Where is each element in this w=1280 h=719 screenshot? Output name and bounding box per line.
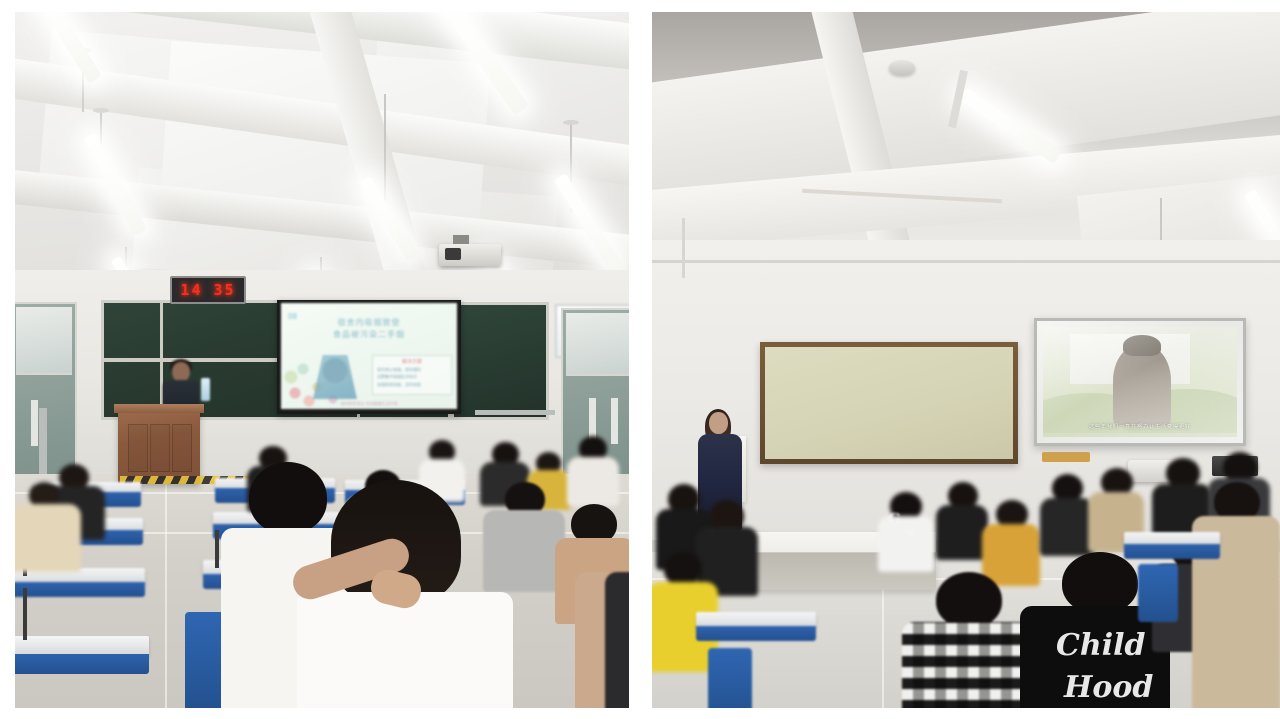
slide-footer: 保持宿舍清洁 共创健康生活环境 [340,401,397,407]
student [15,482,79,572]
chalkboard-left-side-panel [451,302,549,420]
door-push-bar [31,400,38,446]
door-transom-window [566,313,629,376]
projected-video: 这些年我们一直在努力让生活变得更好 [1043,327,1237,437]
slide-solution-box: 解决方案 室内禁止吸烟，保持通风 设置集中吸烟区并标识 加强宿舍巡查，及时劝阻 [372,355,452,395]
video-subtitle: 这些年我们一直在努力让生活变得更好 [1043,423,1237,430]
slide-title-line2: 食品被污染二手烟 [333,329,405,340]
lecture-chair [1138,564,1178,622]
water-bottle [201,378,210,401]
student-foreground-plaid [902,572,1034,708]
light-stem [384,94,386,204]
student [936,482,988,560]
childhood-shirt-line1: Child [1056,628,1145,663]
light-canopy [563,120,579,125]
lecture-chair [708,648,752,708]
student [1040,474,1094,556]
slide-box-line: 加强宿舍巡查，及时劝阻 [377,382,451,388]
ceiling-projector-left [439,244,501,266]
marker-tray [1042,452,1090,462]
projection-screen-left: 08 宿舍内吸烟致使 食品被污染二手烟 解决方案 室内禁止吸烟，保持通风 设置集… [277,300,461,414]
hand-rail [475,410,555,415]
smoke-detector-icon [889,60,915,75]
lecture-desk [1124,532,1220,546]
slide-box-heading: 解决方案 [373,358,451,365]
lecture-desk [696,612,816,628]
projection-screen-right: 这些年我们一直在努力让生活变得更好 [1034,318,1246,446]
student [605,572,629,708]
slide-box-line: 室内禁止吸烟，保持通风 [377,367,451,373]
presentation-slide: 08 宿舍内吸烟致使 食品被污染二手烟 解决方案 室内禁止吸烟，保持通风 设置集… [281,303,457,409]
light-canopy [93,108,109,113]
slide-box-line: 设置集中吸烟区并标识 [377,374,451,380]
student [1192,482,1280,708]
writing-board-right [760,342,1018,464]
digital-wall-clock-left: 14 35 [170,276,246,304]
classroom-photo-left: 08 宿舍内吸烟致使 食品被污染二手烟 解决方案 室内禁止吸烟，保持通风 设置集… [15,12,629,708]
photo-collage-canvas: 08 宿舍内吸烟致使 食品被污染二手烟 解决方案 室内禁止吸烟，保持通风 设置集… [0,0,1280,719]
slide-title-line1: 宿舍内吸烟致使 [338,317,401,328]
video-figure [1113,345,1171,426]
wooden-podium [118,410,200,484]
door-transom-window [16,307,72,375]
lecture-desk [15,636,149,656]
student [567,436,619,506]
gs-shirt-letter-2: S [904,524,915,542]
slide-number: 08 [288,312,297,321]
ceiling-right [652,12,1280,262]
gs-shirt-letter-1: G [888,510,901,528]
childhood-shirt-line2: Hood [1064,670,1153,705]
classroom-photo-right: 这些年我们一直在努力让生活变得更好 08 34 [652,12,1280,708]
